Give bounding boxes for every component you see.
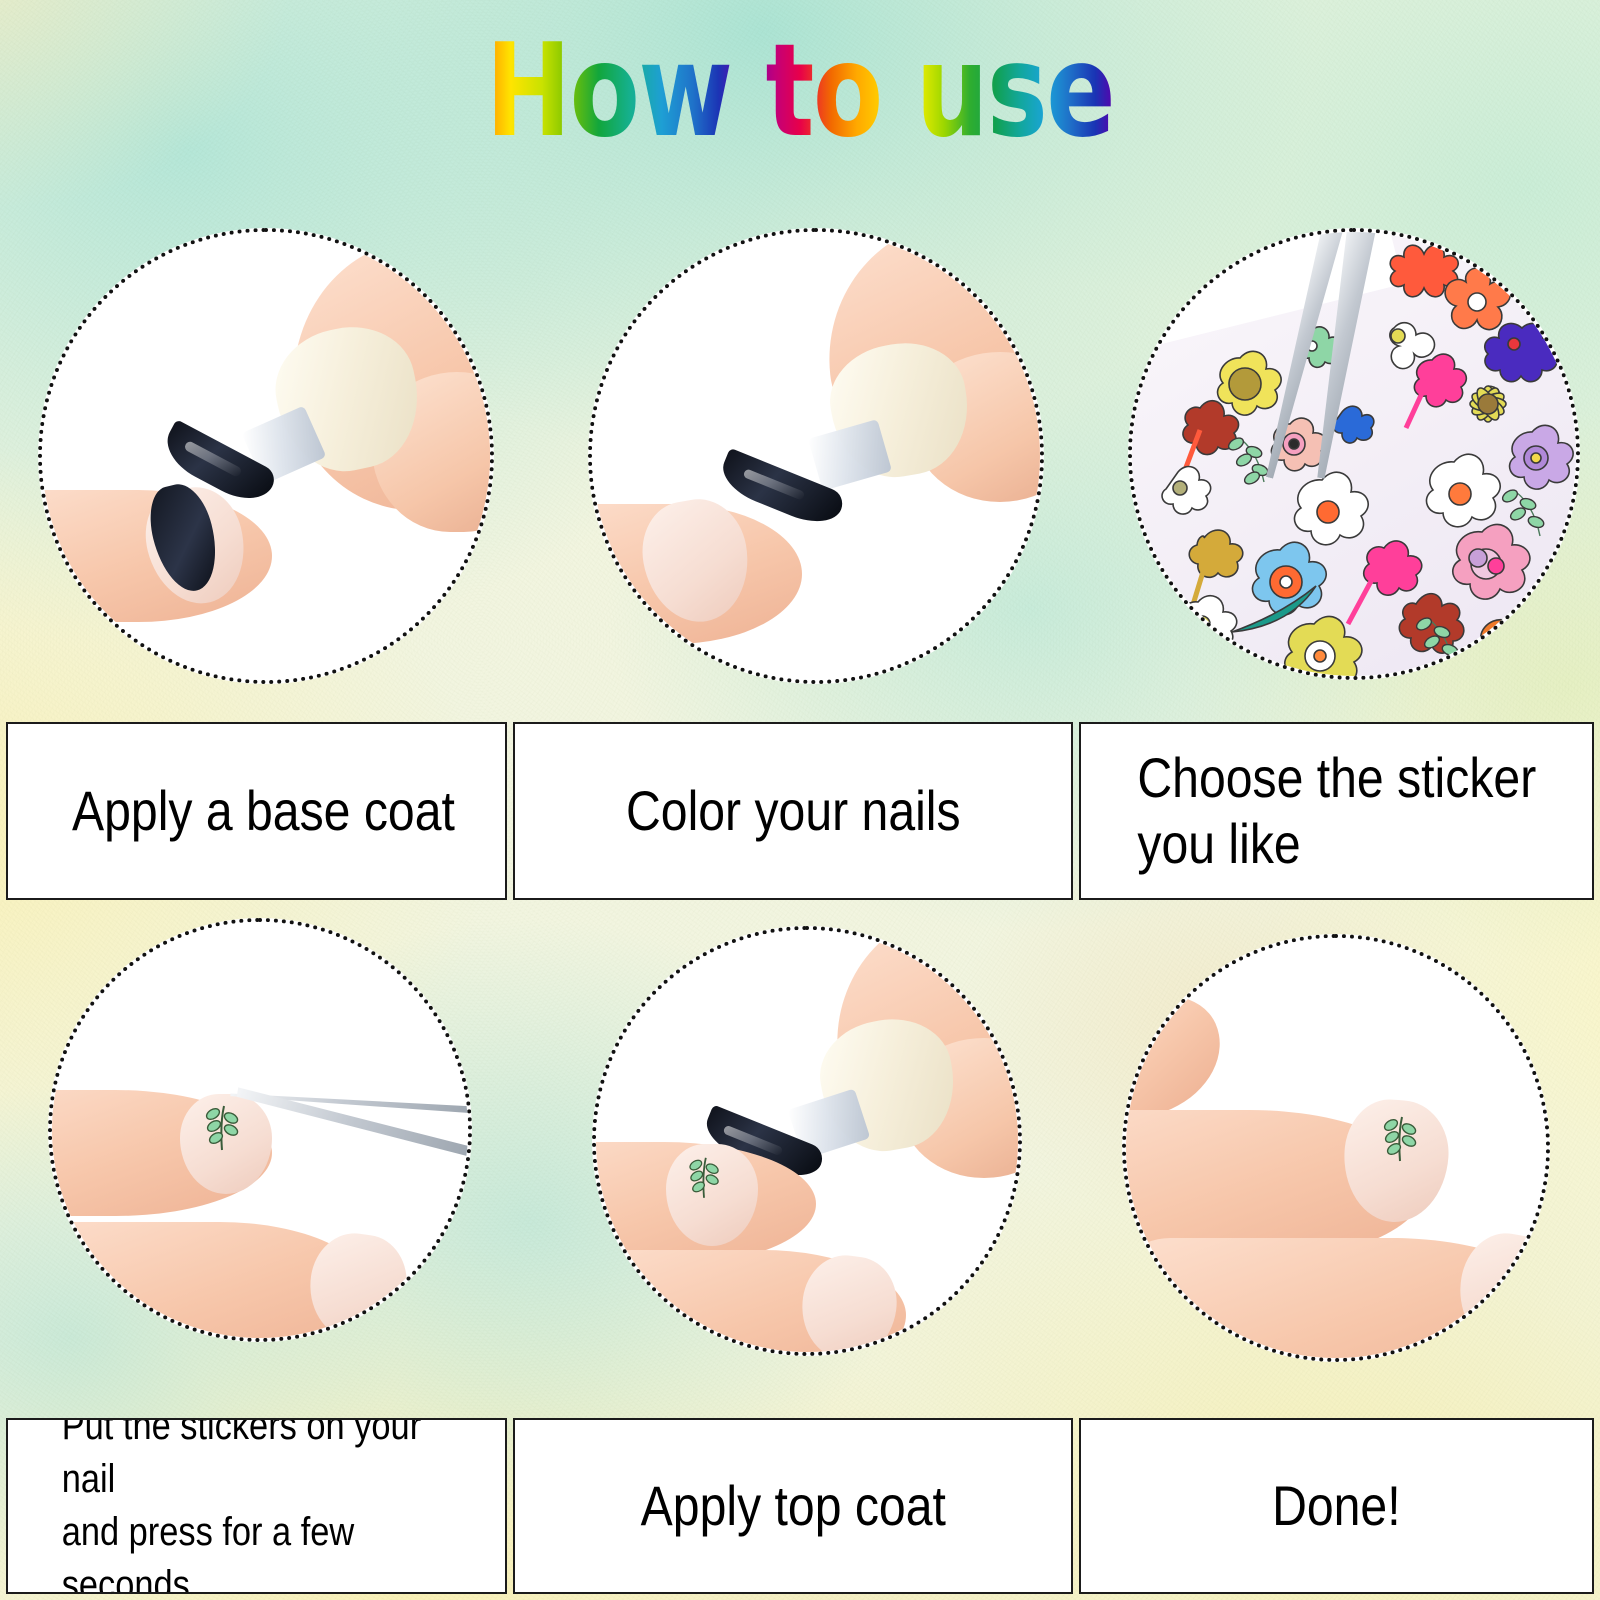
photo-top-coat xyxy=(596,930,1018,1352)
caption-box-3: Choose the sticker you like xyxy=(1079,722,1594,900)
step-photo-1 xyxy=(38,228,494,684)
step-photo-2 xyxy=(588,228,1044,684)
caption-box-2: Color your nails xyxy=(513,722,1074,900)
caption-text-3: Choose the sticker you like xyxy=(1117,745,1556,877)
leaf-sticker-icon xyxy=(200,1100,244,1152)
title-text: How to use xyxy=(486,28,1115,156)
leaf-sticker-icon xyxy=(1378,1110,1422,1164)
caption-box-1: Apply a base coat xyxy=(6,722,507,900)
page-title: How to use xyxy=(0,22,1600,162)
how-to-use-infographic: How to use xyxy=(0,0,1600,1600)
caption-text-6: Done! xyxy=(1117,1473,1556,1539)
photo-place-sticker xyxy=(52,922,468,1338)
caption-text-5: Apply top coat xyxy=(554,1473,1033,1539)
caption-row-1: Apply a base coat Color your nails Choos… xyxy=(6,722,1594,900)
leaf-sticker-icon xyxy=(684,1152,724,1200)
photo-sticker-sheet xyxy=(1132,232,1576,676)
brush-ferrule xyxy=(808,419,892,491)
caption-text-4: Put the stickers on your nail and press … xyxy=(43,1418,470,1594)
step-photo-3 xyxy=(1128,228,1580,680)
caption-box-6: Done! xyxy=(1079,1418,1594,1594)
caption-text-2: Color your nails xyxy=(554,778,1033,844)
photo-color-nails xyxy=(592,232,1040,680)
step-photo-4 xyxy=(48,918,472,1342)
photo-base-coat xyxy=(42,232,490,680)
caption-box-5: Apply top coat xyxy=(513,1418,1074,1594)
caption-text-1: Apply a base coat xyxy=(43,778,470,844)
caption-row-2: Put the stickers on your nail and press … xyxy=(6,1418,1594,1594)
caption-box-4: Put the stickers on your nail and press … xyxy=(6,1418,507,1594)
step-photo-6 xyxy=(1122,934,1550,1362)
photo-done xyxy=(1126,938,1546,1358)
step-photo-5 xyxy=(592,926,1022,1356)
